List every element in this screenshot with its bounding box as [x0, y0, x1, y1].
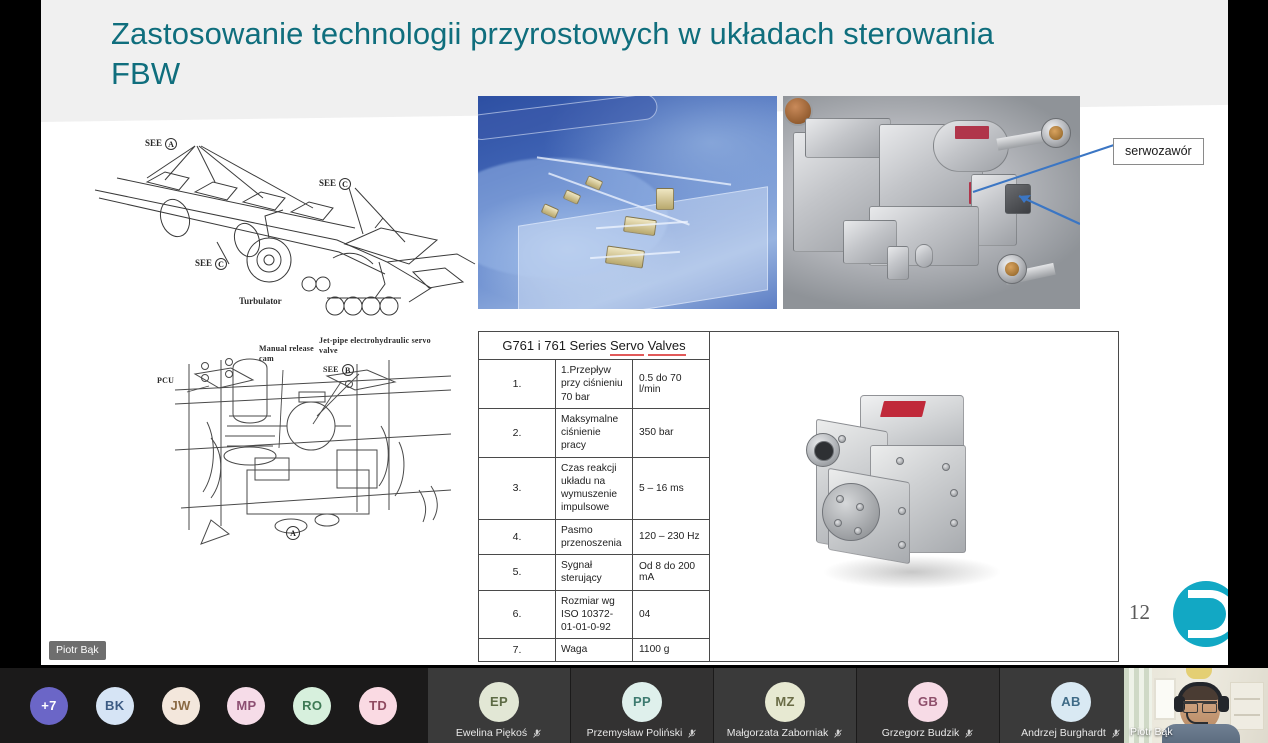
avatar-jw[interactable]: JW [162, 687, 200, 725]
letterbox-left [0, 0, 41, 668]
participant-name: Małgorzata Zaborniak [727, 727, 829, 739]
row-value: 0.5 do 70 l/min [633, 360, 710, 409]
aircraft-wing-diagram: SEEA SEEC SEEC Turbulator [87, 112, 477, 317]
row-index: 4. [479, 519, 556, 555]
avatar-mp[interactable]: MP [227, 687, 265, 725]
spec-table-title-text: G761 i 761 Series Servo Valves [502, 338, 685, 356]
row-value: Od 8 do 200 mA [633, 555, 710, 591]
spec-table-image-cell [710, 332, 1119, 662]
row-value: 120 – 230 Hz [633, 519, 710, 555]
servo-valve-spec-table: G761 i 761 Series Servo Valves [478, 331, 1119, 662]
participant-name-row: Andrzej Burghardt [1000, 727, 1142, 739]
avatar: AB [1051, 682, 1091, 722]
row-index: 1. [479, 360, 556, 409]
pcu-label: PCU [157, 376, 174, 385]
avatar-overflow-initials: +7 [41, 698, 56, 713]
participant-name: Andrzej Burghardt [1021, 727, 1106, 739]
wing-actuator-cad-image [478, 96, 777, 309]
participant-name-row: Ewelina Piękoś [428, 727, 570, 739]
bookshelf [1230, 682, 1264, 730]
avatar: EP [479, 682, 519, 722]
aircraft-caption-turbulator: Turbulator [239, 296, 282, 306]
circle-marker-c-right: C [339, 178, 351, 190]
video-tile-name: Piotr Bąk [1130, 726, 1173, 738]
avatar-initials: RO [302, 698, 322, 713]
mic-muted-icon [833, 728, 843, 739]
aircraft-label-see-a: SEEA [145, 138, 177, 150]
row-index: 6. [479, 590, 556, 639]
avatar-td[interactable]: TD [359, 687, 397, 725]
ceiling-lamp [1186, 668, 1212, 679]
avatar: PP [622, 682, 662, 722]
avatar-initials: PP [633, 694, 651, 709]
shared-content-stage: Zastosowanie technologii przyrostowych w… [0, 0, 1268, 668]
circle-marker-a-bottom: A [286, 526, 300, 540]
participant-name-row: Małgorzata Zaborniak [714, 727, 856, 739]
avatar-initials: BK [105, 698, 124, 713]
row-desc: Rozmiar wg ISO 10372-01-01-0-92 [556, 590, 633, 639]
participant-name-row: Grzegorz Budzik [857, 727, 999, 739]
avatar-initials: AB [1061, 694, 1080, 709]
headset-earcup-right [1218, 696, 1229, 712]
participant-name: Przemysław Poliński [587, 727, 683, 739]
avatar-initials: GB [918, 694, 938, 709]
row-desc: Waga [556, 639, 633, 661]
pcu-linework [151, 330, 471, 560]
avatar-initials: EP [490, 694, 508, 709]
avatar-initials: JW [171, 698, 191, 713]
avatar: MZ [765, 682, 805, 722]
participant-tile-przemyslaw-polinski[interactable]: PP Przemysław Poliński [570, 668, 713, 743]
pcu-label-see-b: SEEB [323, 364, 354, 376]
row-desc: Sygnał sterujący [556, 555, 633, 591]
manual-release-cam-label: Manual release cam [259, 344, 319, 364]
active-presenter-label: Piotr Bąk [49, 641, 106, 660]
participant-tile-andrzej-burghardt[interactable]: AB Andrzej Burghardt [999, 668, 1142, 743]
participant-name-row: Przemysław Poliński [571, 727, 713, 739]
mic-muted-icon [532, 728, 542, 739]
participant-tile-grzegorz-budzik[interactable]: GB Grzegorz Budzik [856, 668, 999, 743]
page-title: Zastosowanie technologii przyrostowych w… [111, 14, 1051, 95]
row-value: 350 bar [633, 408, 710, 457]
servo-actuator-photo [783, 96, 1080, 309]
collapsed-participant-avatars: +7 BK JW MP RO TD [0, 668, 427, 743]
moog-servo-valve-photo [710, 379, 1118, 614]
table-header-row: G761 i 761 Series Servo Valves [479, 332, 1119, 360]
spec-table-body: G761 i 761 Series Servo Valves [479, 332, 1119, 662]
jet-pipe-servo-valve-label: Jet-pipe electrohydraulic servo valve [319, 336, 431, 356]
row-desc: 1.Przepływ przy ciśnieniu 70 bar [556, 360, 633, 409]
mic-muted-icon [1111, 728, 1121, 739]
row-index: 5. [479, 555, 556, 591]
slide-page-number: 12 [1129, 600, 1150, 625]
row-index: 7. [479, 639, 556, 661]
participant-video-tile-piotr-bak[interactable]: Piotr Bąk [1124, 668, 1268, 743]
participant-tile-ewelina-piekos[interactable]: EP Ewelina Piękoś [427, 668, 570, 743]
mic-muted-icon [687, 728, 697, 739]
callout-leader-line [971, 130, 1121, 200]
avatar: GB [908, 682, 948, 722]
circle-marker-c-left: C [215, 258, 227, 270]
mic-muted-icon [964, 728, 974, 739]
presentation-slide: Zastosowanie technologii przyrostowych w… [41, 0, 1228, 665]
callout-serwozawor: serwozawór [1113, 138, 1204, 165]
row-value: 04 [633, 590, 710, 639]
circle-marker-a: A [165, 138, 177, 150]
avatar-initials: MZ [775, 694, 794, 709]
window [1154, 678, 1176, 720]
row-value: 5 – 16 ms [633, 457, 710, 519]
participant-name: Grzegorz Budzik [882, 727, 960, 739]
row-desc: Czas reakcji układu na wymuszenie impuls… [556, 457, 633, 519]
avatar-initials: MP [236, 698, 256, 713]
circle-marker-b: B [342, 364, 354, 376]
eyeglasses [1183, 701, 1217, 710]
row-value: 1100 g [633, 639, 710, 661]
row-desc: Pasmo przenoszenia [556, 519, 633, 555]
letterbox-right [1228, 0, 1268, 668]
aircraft-label-see-c-left: SEEC [195, 258, 227, 270]
organization-logo [1170, 578, 1228, 650]
aircraft-label-see-c-right: SEEC [319, 178, 351, 190]
row-index: 2. [479, 408, 556, 457]
headset-boom-mic [1186, 712, 1208, 724]
participant-tile-malgorzata-zaborniak[interactable]: MZ Małgorzata Zaborniak [713, 668, 856, 743]
spec-table-title: G761 i 761 Series Servo Valves [479, 332, 710, 360]
avatar-overflow-count[interactable]: +7 [30, 687, 68, 725]
avatar-initials: TD [369, 698, 387, 713]
person-torso [1162, 724, 1240, 743]
meeting-screen-share-window: Zastosowanie technologii przyrostowych w… [0, 0, 1268, 743]
avatar-ro[interactable]: RO [293, 687, 331, 725]
row-index: 3. [479, 457, 556, 519]
participant-name: Ewelina Piękoś [456, 727, 527, 739]
pcu-servo-valve-diagram: PCU Manual release cam Jet-pipe electroh… [151, 330, 471, 560]
avatar-bk[interactable]: BK [96, 687, 134, 725]
row-desc: Maksymalne ciśnienie pracy [556, 408, 633, 457]
participant-filmstrip: +7 BK JW MP RO TD EP Ewelina Piękoś [0, 668, 1268, 743]
